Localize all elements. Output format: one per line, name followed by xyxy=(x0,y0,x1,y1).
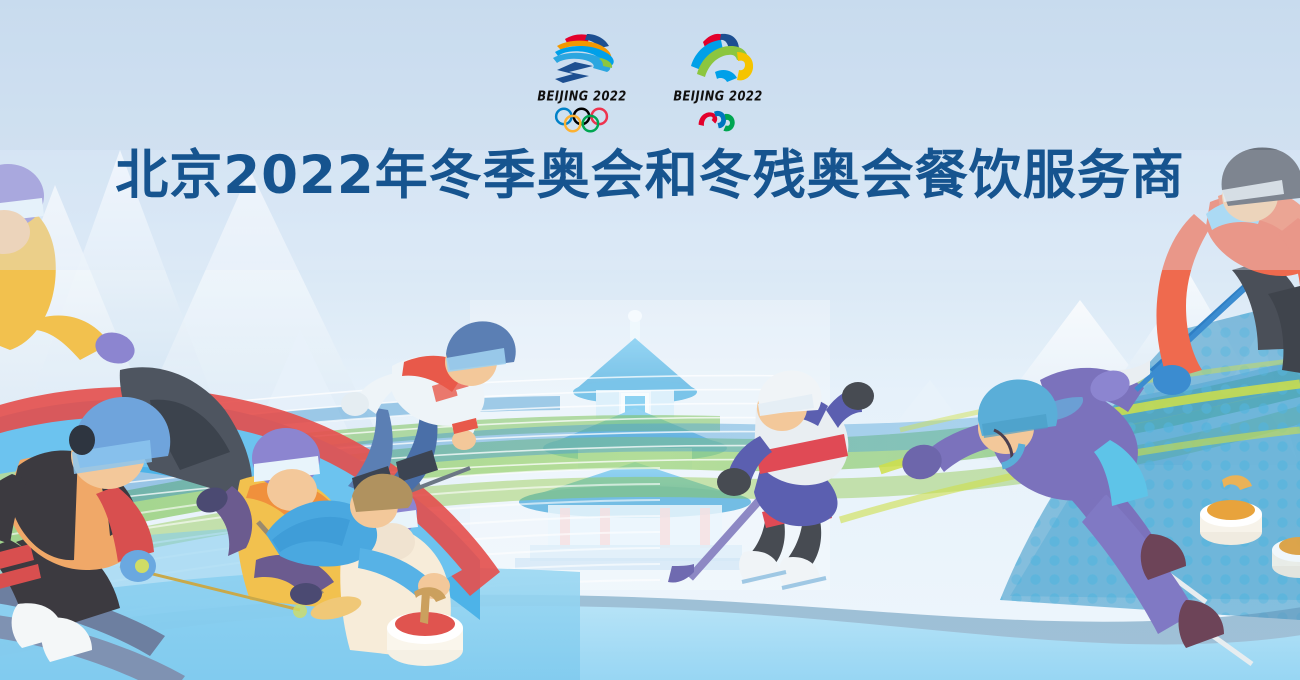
paralympic-wordmark: BEIJING 2022 xyxy=(673,88,762,105)
emblem-row: BEIJING 2022 BEIJING 20 xyxy=(0,30,1300,140)
olympic-emblem: BEIJING 2022 xyxy=(532,30,632,133)
paralympic-emblem: BEIJING 2022 xyxy=(668,30,768,133)
olympic-wordmark: BEIJING 2022 xyxy=(537,88,626,105)
olympic-emblem-mark xyxy=(539,30,625,86)
page-title: 北京2022年冬季奥会和冬残奥会餐饮服务商 xyxy=(0,146,1300,206)
beijing-2022-banner: BEIJING 2022 BEIJING 20 xyxy=(0,0,1300,680)
agitos-icon xyxy=(688,107,747,133)
olympic-rings-icon xyxy=(552,107,611,133)
paralympic-emblem-mark xyxy=(675,30,761,86)
